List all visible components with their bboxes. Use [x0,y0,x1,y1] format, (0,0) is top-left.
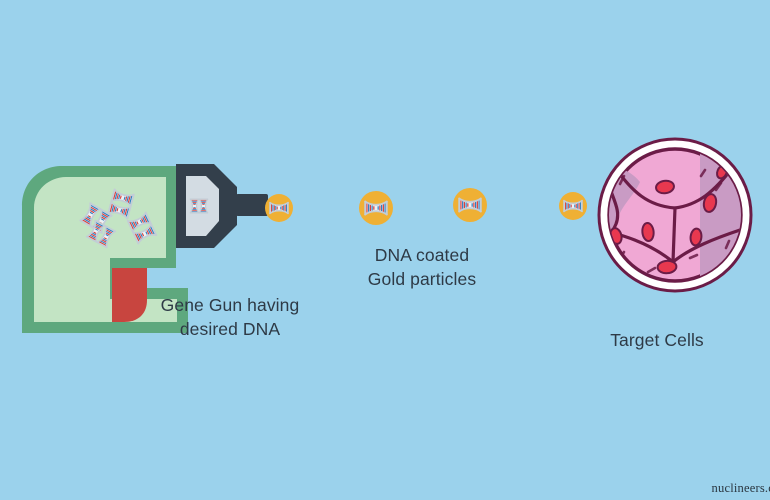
label-gold-line1: DNA coated [297,243,547,267]
label-gene-gun-line1: Gene Gun having [85,293,375,317]
target-cell-cluster [596,139,751,291]
label-gene-gun: Gene Gun having desired DNA [85,293,375,341]
gold-particle-at-muzzle [265,194,293,222]
gold-particle-2 [453,188,487,222]
label-gold-line2: Gold particles [297,267,547,291]
label-target-cells: Target Cells [552,328,762,352]
gold-particle-1 [359,191,393,225]
label-target-text: Target Cells [552,328,762,352]
watermark: nuclineers.c [712,481,770,496]
label-gold-particles: DNA coated Gold particles [297,243,547,291]
label-gene-gun-line2: desired DNA [85,317,375,341]
gene-gun-nozzle [236,194,268,216]
gold-particle-at-cell [559,192,587,220]
